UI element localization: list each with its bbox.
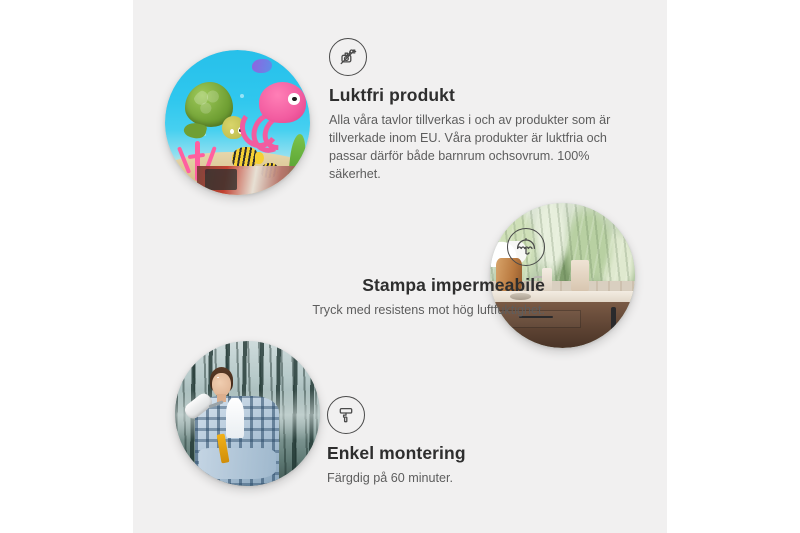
feature-description: Färgdig på 60 minuter. (327, 470, 577, 488)
feature-description: Tryck med resistens mot hög luftfuktighe… (215, 302, 545, 320)
product-photo-underwater[interactable] (165, 50, 310, 195)
room-photo-strip (197, 166, 301, 195)
feature-title: Enkel montering (327, 443, 577, 464)
no-spray-bottle-icon (329, 38, 367, 76)
candle-icon (571, 260, 588, 292)
feature-waterproof: Stampa impermeabile Tryck med resistens … (215, 228, 545, 320)
cabinet-handle-icon (611, 307, 616, 334)
umbrella-icon (507, 228, 545, 266)
underwater-scene (165, 50, 310, 195)
feature-description: Alla våra tavlor tillverkas i och av pro… (329, 112, 629, 184)
painter-scene (175, 341, 320, 486)
screenshot-stage: Luktfri produkt Alla våra tavlor tillver… (0, 0, 800, 533)
product-photo-painter[interactable] (175, 341, 320, 486)
feature-title: Luktfri produkt (329, 85, 629, 106)
paint-roller-icon (327, 396, 365, 434)
feature-odourless: Luktfri produkt Alla våra tavlor tillver… (329, 38, 629, 184)
woman-painter (195, 367, 279, 486)
feature-mounting: Enkel montering Färgdig på 60 minuter. (327, 396, 577, 488)
octopus-icon (243, 82, 307, 149)
feature-title: Stampa impermeabile (215, 275, 545, 296)
content-panel: Luktfri produkt Alla våra tavlor tillver… (133, 0, 667, 533)
